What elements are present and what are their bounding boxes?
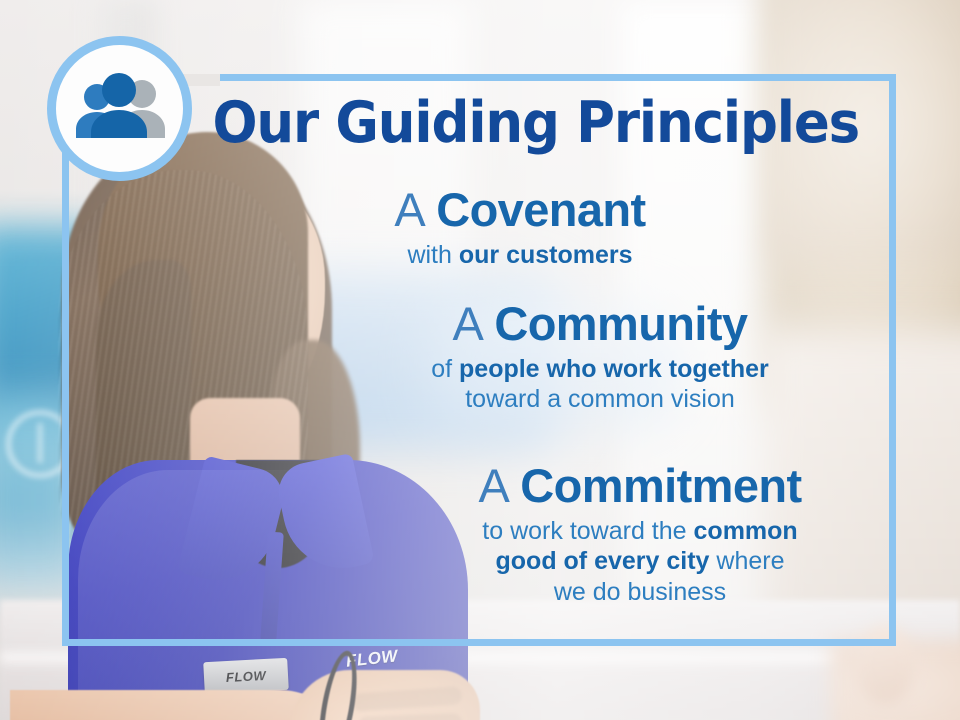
principle-commitment-article: A — [478, 459, 507, 512]
principle-commitment-word: Commitment — [520, 459, 801, 512]
principle-community-subtext: of people who work together toward a com… — [330, 354, 870, 415]
customer-fingers — [855, 625, 915, 705]
guiding-principles-graphic: FLOW FLOW Our Guiding Principl — [0, 0, 960, 720]
page-title: Our Guiding Principles — [34, 95, 927, 152]
text-fragment: our customers — [459, 241, 633, 269]
text-fragment: where — [709, 547, 784, 575]
principle-commitment: A Commitment to work toward the common g… — [380, 462, 900, 607]
principle-community-word: Community — [494, 297, 747, 350]
text-fragment: common — [694, 517, 798, 545]
text-fragment: we do business — [554, 578, 726, 606]
principle-covenant-subtext: with our customers — [300, 240, 740, 271]
principle-commitment-heading: A Commitment — [380, 462, 900, 510]
text-fragment: to work toward the — [482, 517, 693, 545]
employee-name-badge: FLOW — [203, 658, 289, 694]
text-fragment: of — [431, 355, 459, 383]
principle-commitment-subline-2: good of every city where — [380, 546, 900, 577]
text-fragment: good of every city — [496, 547, 710, 575]
principle-community-heading: A Community — [330, 300, 870, 348]
principle-community-subline-1: of people who work together — [330, 354, 870, 385]
principle-covenant-article: A — [394, 183, 423, 236]
employee-arm — [10, 690, 340, 720]
text-fragment: with — [407, 241, 458, 269]
principle-commitment-subtext: to work toward the common good of every … — [380, 516, 900, 608]
text-fragment: people who work together — [459, 355, 769, 383]
principle-community-article: A — [453, 297, 482, 350]
principle-covenant: A Covenant with our customers — [300, 186, 740, 270]
principle-covenant-heading: A Covenant — [300, 186, 740, 234]
principle-covenant-subline-1: with our customers — [300, 240, 740, 271]
principle-community: A Community of people who work together … — [330, 300, 870, 415]
text-fragment: toward a common vision — [465, 385, 735, 413]
principle-community-subline-2: toward a common vision — [330, 384, 870, 415]
principle-covenant-word: Covenant — [436, 183, 645, 236]
employee-name-badge-text: FLOW — [225, 667, 266, 684]
principle-commitment-subline-3: we do business — [380, 577, 900, 608]
principle-commitment-subline-1: to work toward the common — [380, 516, 900, 547]
